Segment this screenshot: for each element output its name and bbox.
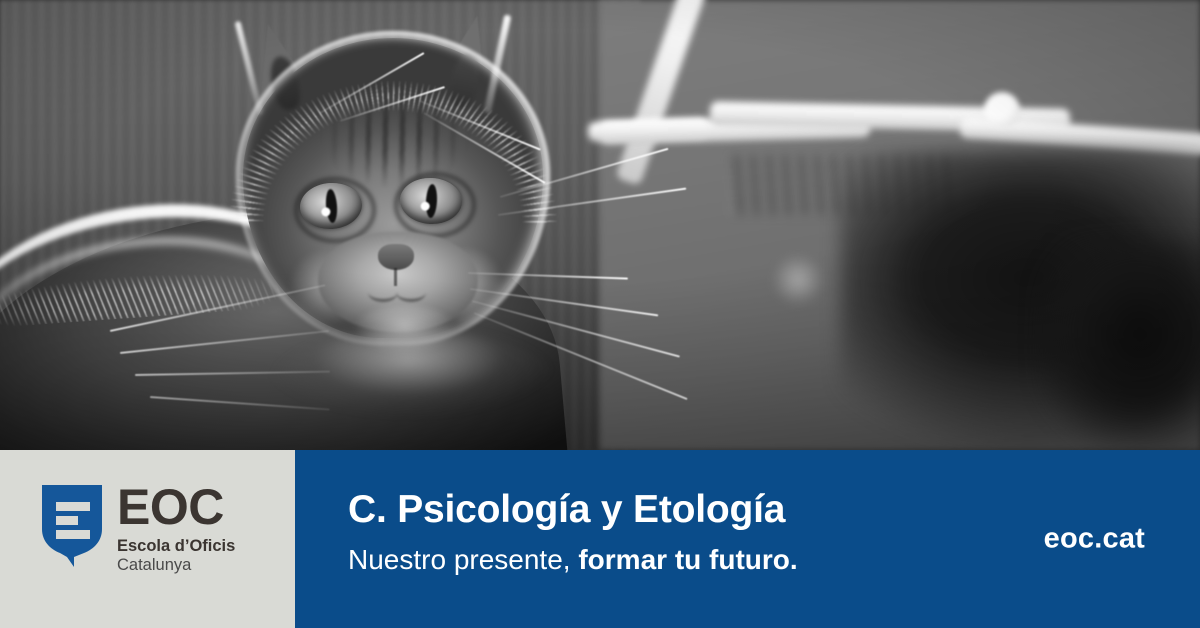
eoc-shield-svg bbox=[40, 483, 104, 569]
promo-tagline-regular: Nuestro presente, bbox=[348, 544, 571, 575]
eoc-sub-line-1: Escola d’Oficis bbox=[117, 537, 235, 556]
eoc-shield-icon bbox=[40, 483, 104, 569]
promo-tagline-bold-text: formar tu futuro. bbox=[578, 544, 797, 575]
site-url-link[interactable]: eoc.cat bbox=[1044, 523, 1145, 556]
promo-tagline: Nuestro presente, formar tu futuro. bbox=[348, 545, 798, 576]
cat-photo bbox=[0, 0, 1200, 450]
eoc-promo-banner: EOC Escola d’Oficis Catalunya C. Psicolo… bbox=[0, 0, 1200, 628]
eoc-wordmark: EOC Escola d’Oficis Catalunya bbox=[117, 483, 235, 575]
logo-panel: EOC Escola d’Oficis Catalunya bbox=[0, 450, 295, 628]
eoc-wordmark-text: EOC bbox=[117, 484, 235, 531]
promo-panel: C. Psicología y Etología Nuestro present… bbox=[295, 450, 1200, 628]
eoc-logo[interactable]: EOC Escola d’Oficis Catalunya bbox=[40, 483, 235, 575]
promo-text-block: C. Psicología y Etología Nuestro present… bbox=[348, 490, 798, 576]
bottom-bar: EOC Escola d’Oficis Catalunya C. Psicolo… bbox=[0, 450, 1200, 628]
eoc-sub-line-2: Catalunya bbox=[117, 556, 235, 575]
photo-vignette bbox=[0, 0, 1200, 450]
promo-headline: C. Psicología y Etología bbox=[348, 490, 798, 531]
